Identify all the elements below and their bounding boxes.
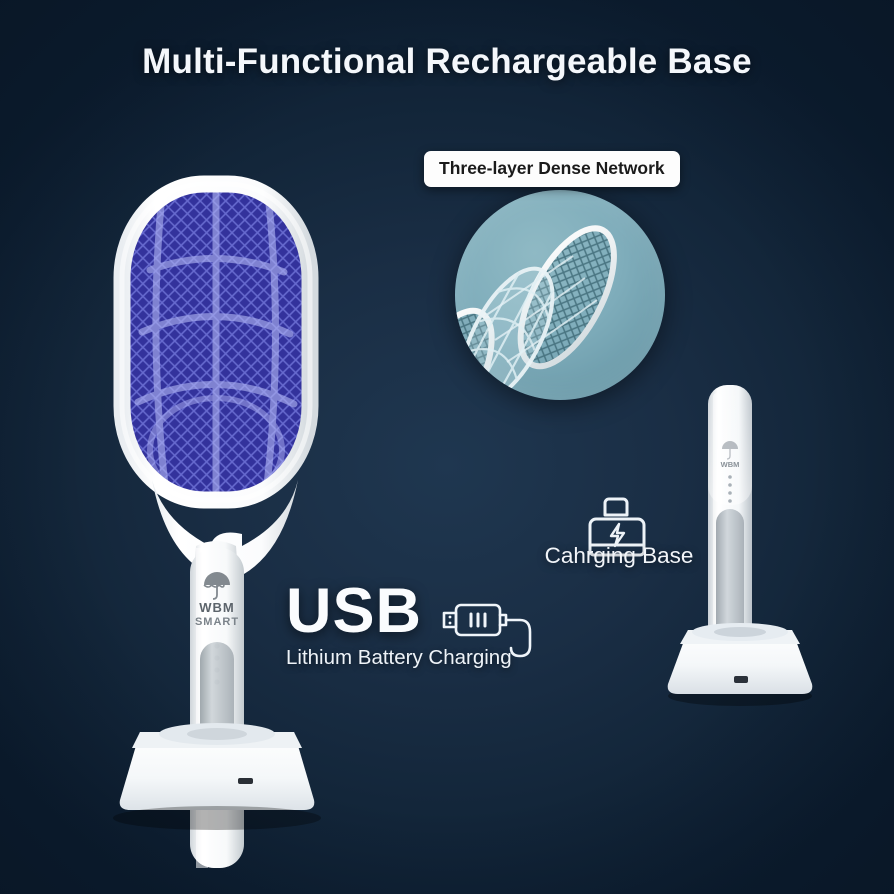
empty-charging-dock xyxy=(660,612,820,704)
svg-text:SMART: SMART xyxy=(195,616,239,628)
three-layer-mesh-diagram xyxy=(455,190,665,400)
usb-plug-cable-icon xyxy=(438,593,536,669)
status-badge: Three-layer Dense Network xyxy=(424,151,680,187)
charging-base-label: Cahrging Base xyxy=(505,543,733,569)
page-title: Multi-Functional Rechargeable Base xyxy=(0,42,894,82)
dock-logo-badge xyxy=(734,676,748,683)
usb-port xyxy=(238,778,253,784)
svg-text:WBM: WBM xyxy=(721,460,740,469)
product-infographic: Multi-Functional Rechargeable Base Three… xyxy=(0,0,894,894)
svg-text:WBM: WBM xyxy=(199,600,235,615)
usb-feature-block: USB Lithium Battery Charging xyxy=(286,583,512,670)
mosquito-swatter-racket: WBM SMART xyxy=(92,150,372,850)
